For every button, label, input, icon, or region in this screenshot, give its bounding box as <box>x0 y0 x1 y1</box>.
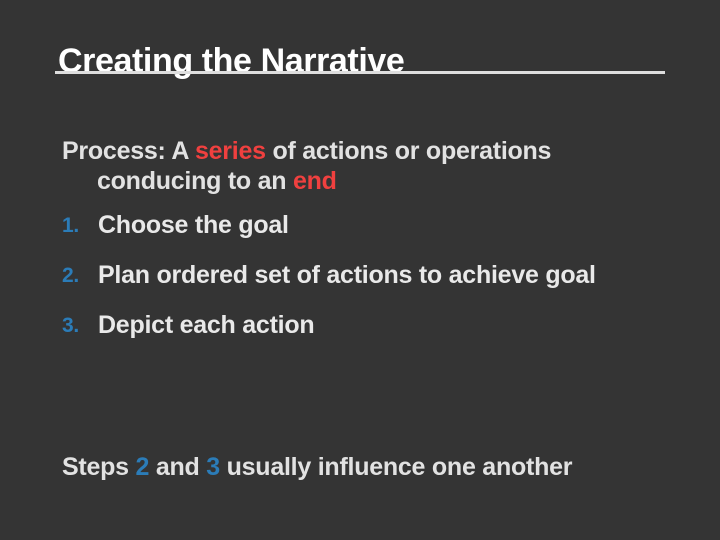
list-item-label: Choose the goal <box>98 211 289 239</box>
intro-highlight-series: series <box>195 137 266 165</box>
intro-paragraph: Process: A series of actions or operatio… <box>97 136 672 196</box>
steps-list: 1. Choose the goal 2. Plan ordered set o… <box>62 210 672 340</box>
list-item: 1. Choose the goal <box>62 210 672 240</box>
list-item-label: Plan ordered set of actions to achieve g… <box>98 261 596 289</box>
closing-paragraph: Steps 2 and 3 usually influence one anot… <box>97 452 672 482</box>
intro-highlight-end: end <box>293 167 337 195</box>
list-item: 3. Depict each action <box>62 310 672 340</box>
title-divider <box>55 71 665 74</box>
list-item-number: 3. <box>62 311 79 341</box>
closing-highlight-step-2: 2 <box>136 453 150 481</box>
closing-part-2: and <box>149 453 206 481</box>
intro-lead: Process: A <box>62 137 195 165</box>
closing-highlight-step-3: 3 <box>206 453 220 481</box>
list-item-label: Depict each action <box>98 311 314 339</box>
closing-part-3: usually influence one another <box>220 453 572 481</box>
list-item-number: 2. <box>62 261 79 291</box>
list-item-number: 1. <box>62 211 79 241</box>
list-item: 2. Plan ordered set of actions to achiev… <box>62 260 672 290</box>
closing-part-1: Steps <box>62 453 136 481</box>
slide-canvas: Creating the Narrative Process: A series… <box>0 0 720 540</box>
page-title: Creating the Narrative <box>58 41 678 81</box>
